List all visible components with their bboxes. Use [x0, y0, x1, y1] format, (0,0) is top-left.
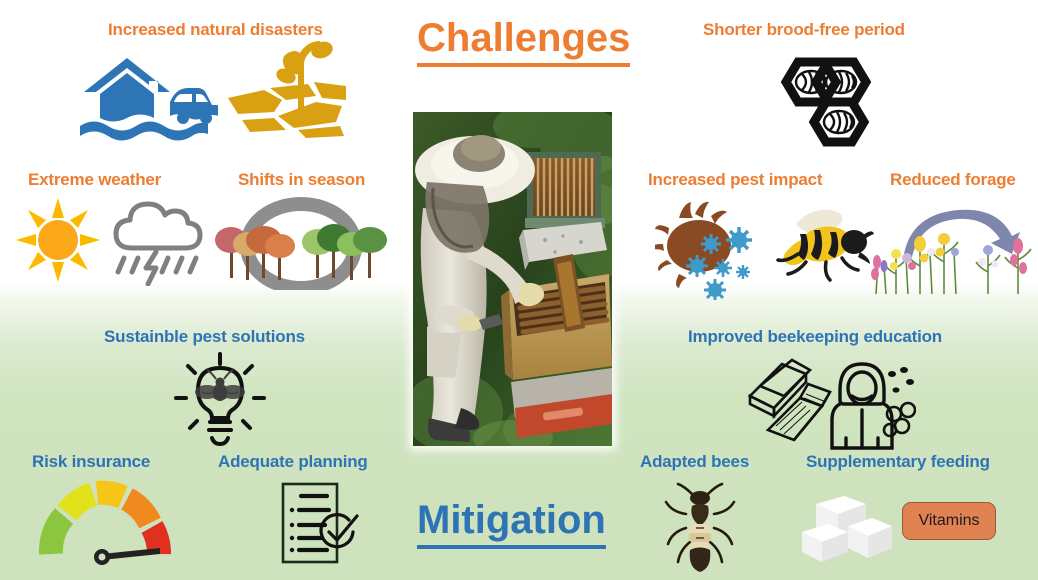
- label-supplementary-feeding: Supplementary feeding: [806, 452, 990, 472]
- checklist-document-icon: [277, 480, 361, 566]
- label-sustainable-pest-solutions: Sustainble pest solutions: [104, 327, 305, 347]
- varroa-mite-icon: [655, 200, 765, 300]
- label-adequate-planning: Adequate planning: [218, 452, 368, 472]
- vitamins-button[interactable]: Vitamins: [902, 502, 996, 540]
- mitigation-title: Mitigation: [417, 498, 606, 549]
- beekeeper-inspecting-hive-photo: [413, 112, 612, 446]
- label-increased-pest-impact: Increased pest impact: [648, 170, 822, 190]
- label-reduced-forage: Reduced forage: [890, 170, 1016, 190]
- honey-bee-icon: [662, 480, 738, 572]
- label-improved-beekeeping-education: Improved beekeeping education: [688, 327, 942, 347]
- sun-icon: [14, 196, 102, 284]
- infographic-poster: Challenges Mitigation Increased natural …: [0, 0, 1038, 580]
- books-and-beekeeper-icon: [744, 352, 916, 452]
- label-risk-insurance: Risk insurance: [32, 452, 150, 472]
- honeycomb-brood-cells-icon: [762, 54, 890, 158]
- declining-wildflowers-arrow-icon: [868, 196, 1038, 296]
- drought-cracked-earth-icon: [224, 28, 350, 140]
- label-adapted-bees: Adapted bees: [640, 452, 749, 472]
- sugar-cubes-icon: [798, 486, 898, 564]
- seasonal-trees-cycle-icon: [206, 196, 396, 290]
- risk-gauge-icon: [34, 478, 176, 566]
- label-shifts-in-season: Shifts in season: [238, 170, 365, 190]
- wasp-icon: [762, 200, 874, 292]
- storm-cloud-icon: [108, 194, 208, 286]
- flooded-house-icon: [70, 48, 218, 143]
- lightbulb-with-bee-icon: [172, 352, 268, 448]
- label-extreme-weather: Extreme weather: [28, 170, 161, 190]
- challenges-title: Challenges: [417, 16, 630, 67]
- label-shorter-brood-free-period: Shorter brood-free period: [703, 20, 905, 40]
